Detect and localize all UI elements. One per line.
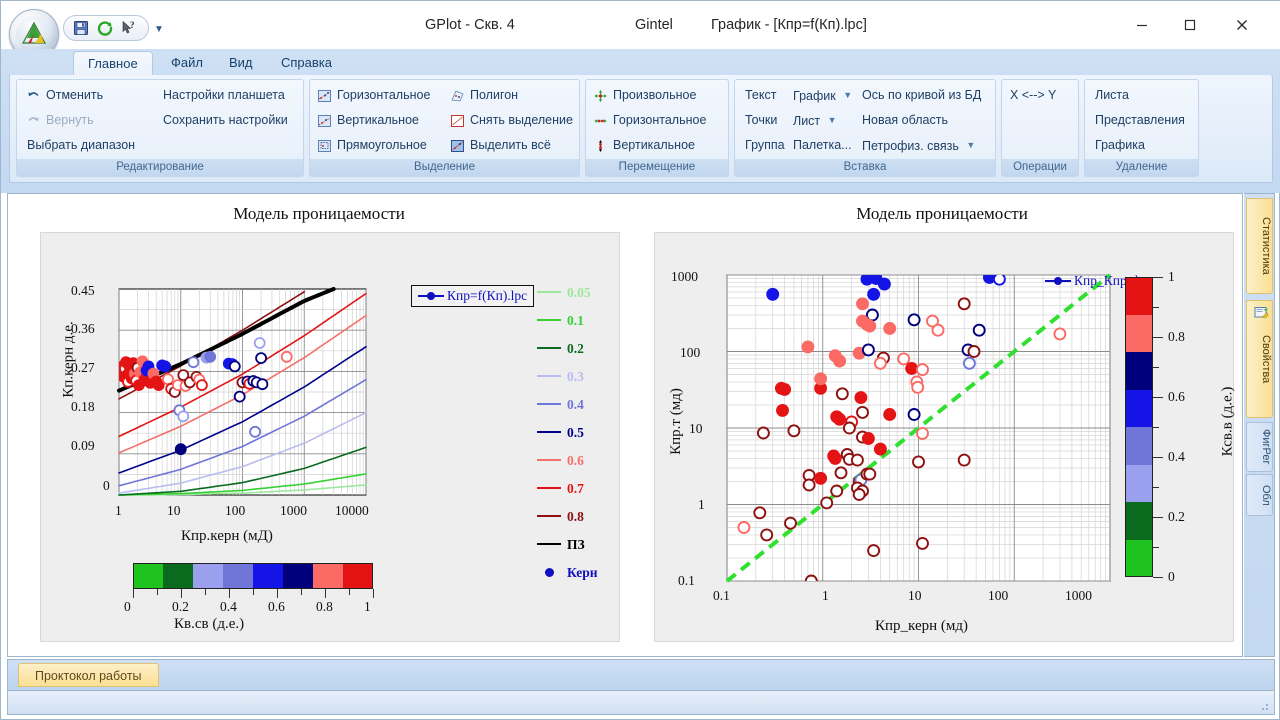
ribbon-group-insert: Текст Точки Группа График ▼ Лист ▼ Палет… (734, 79, 996, 177)
plot-panel-left[interactable]: Модель проницаемости Кп.керн д.е. Кпр.ке… (16, 202, 622, 646)
chevron-down-icon[interactable]: ▼ (966, 137, 975, 153)
ribbon-group-selection-title: Выделение (310, 159, 579, 176)
btn-insert-chart[interactable]: График ▼ (791, 86, 854, 105)
legend-dot-swatch (537, 565, 561, 581)
colorbar-tick-label: 0.8 (1168, 329, 1185, 345)
window-close-button[interactable] (1219, 1, 1265, 49)
ribbon-group-delete-title: Удаление (1085, 159, 1198, 176)
legend-line-swatch (537, 403, 561, 405)
colorbar-tick-label: 0.8 (316, 599, 333, 615)
select-all-icon (451, 140, 466, 154)
colorbar-tick (1153, 517, 1163, 518)
plot-left-legend-item-label: 0.4 (567, 397, 584, 412)
plot-left-legend-box[interactable]: Кпр=f(Кп).lpc (411, 285, 534, 307)
move-free-icon (594, 90, 609, 104)
chevron-down-icon[interactable]: ▼ (828, 112, 837, 128)
ribbon-group-operations: X <--> Y Операции (1001, 79, 1079, 177)
plot-left-legend-item-10[interactable]: Керн (537, 565, 598, 581)
btn-insert-text[interactable]: Текст (743, 86, 778, 104)
side-tab-svoystva-label: Свойства (1260, 335, 1272, 383)
plot-left-legend-item-label: 0.2 (567, 341, 584, 356)
btn-delete-graphic[interactable]: Графика (1093, 136, 1147, 154)
svg-text:?: ? (130, 20, 135, 30)
ribbon-group-move-title: Перемещение (586, 159, 728, 176)
title-bar: ? ▼ GPlot - Скв. 4 Gintel График - [Кпр=… (1, 1, 1280, 49)
colorbar-tick (1153, 487, 1159, 488)
btn-move-horizontal[interactable]: Горизонтальное (592, 111, 708, 130)
plot-left-legend-item-label: 0.7 (567, 481, 584, 496)
btn-insert-group[interactable]: Группа (743, 136, 787, 154)
plot-left-legend-item-4[interactable]: 0.4 (537, 397, 584, 413)
ribbon-group-editing-title: Редактирование (17, 159, 303, 176)
ribbon-tab-strip: Главное Файл Вид Справка (1, 49, 1280, 75)
select-vertical-icon (318, 115, 333, 129)
plot-left-legend-item-label: 0.8 (567, 509, 584, 524)
btn-move-vertical-label: Вертикальное (613, 138, 695, 152)
plot-left-legend-item-9[interactable]: ПЗ (537, 537, 585, 553)
document-area: Модель проницаемости Кп.керн д.е. Кпр.ке… (7, 193, 1243, 657)
colorbar-tick (301, 589, 302, 595)
btn-new-area[interactable]: Новая область (860, 111, 950, 129)
plot-left-legend-item-0[interactable]: 0.05 (537, 285, 591, 301)
redo-icon (27, 115, 42, 129)
plot-right-colorbar-label: Ксв.в (д.е.) (1219, 387, 1236, 457)
btn-deselect-label: Снять выделение (470, 113, 573, 127)
btn-redo[interactable]: Вернуть (25, 111, 96, 130)
colorbar-tick-label: 0.2 (172, 599, 189, 615)
btn-delete-presentation[interactable]: Представления (1093, 111, 1187, 129)
colorbar-tick-label: 0 (124, 599, 131, 615)
colorbar-tick (229, 589, 230, 598)
legend-line-swatch (537, 459, 561, 461)
plot-left-legend-item-label: 0.1 (567, 313, 584, 328)
ribbon-panel: Отменить Вернуть Выбрать диапазон Настро… (9, 75, 1273, 183)
colorbar-tick (1153, 397, 1163, 398)
legend-line-swatch (537, 319, 561, 321)
plot-left-legend-item-label: 0.6 (567, 453, 584, 468)
btn-select-vertical[interactable]: Вертикальное (316, 111, 421, 130)
select-polygon-icon (451, 90, 466, 104)
colorbar-tick (133, 589, 134, 598)
plot-left-legend-item-label: 0.5 (567, 425, 584, 440)
plot-left-legend-item-label: 0.05 (567, 285, 591, 300)
btn-tablet-settings[interactable]: Настройки планшета (161, 86, 287, 104)
colorbar-tick-label: 0 (1168, 569, 1175, 585)
ribbon-group-insert-title: Вставка (735, 159, 995, 176)
refresh-icon[interactable] (96, 19, 114, 37)
ribbon-group-move: Произвольное Горизонтальное Вертикальное… (585, 79, 729, 177)
plot-left-legend-item-5[interactable]: 0.5 (537, 425, 584, 441)
colorbar-tick-label: 0.2 (1168, 509, 1185, 525)
window-document-title: График - [Кпр=f(Кп).lpc] (711, 1, 867, 49)
plot-left-legend-item-2[interactable]: 0.2 (537, 341, 584, 357)
app-logo-icon (16, 16, 52, 52)
colorbar-tick (157, 589, 158, 595)
plot-left-legend-item-8[interactable]: 0.8 (537, 509, 584, 525)
btn-swap-xy[interactable]: X <--> Y (1008, 86, 1058, 104)
colorbar-tick-label: 0.6 (1168, 389, 1185, 405)
btn-axis-from-db[interactable]: Ось по кривой из БД (860, 86, 983, 104)
colorbar-tick (253, 589, 254, 595)
btn-select-vertical-label: Вертикальное (337, 113, 419, 127)
plot-left-legend-item-label: Керн (567, 565, 598, 580)
side-tab-statistika[interactable]: Статистика (1246, 198, 1273, 294)
plot-panel-right[interactable]: Модель проницаемости Кпр.т (мд) Кпр_керн… (648, 202, 1236, 646)
btn-insert-chart-label: График (793, 89, 836, 103)
plot-left-colorbar-label: Кв.св (д.е.) (174, 616, 244, 633)
colorbar-tick (1153, 547, 1159, 548)
btn-save-settings[interactable]: Сохранить настройки (161, 111, 290, 129)
bottom-bar (7, 691, 1275, 715)
colorbar-tick-label: 1 (1168, 269, 1175, 285)
colorbar-tick-label: 0.6 (268, 599, 285, 615)
colorbar-tick (277, 589, 278, 598)
window-org-name: Gintel (635, 1, 673, 49)
colorbar-frame (133, 563, 373, 589)
colorbar-tick-label: 0.4 (1168, 449, 1185, 465)
btn-select-horizontal[interactable]: Горизонтальное (316, 86, 432, 105)
window-maximize-button[interactable] (1167, 1, 1213, 49)
move-horizontal-icon (594, 115, 609, 129)
btn-select-all-label: Выделить всё (470, 138, 551, 152)
legend-line-swatch (537, 487, 561, 489)
legend-line-swatch (537, 543, 561, 545)
colorbar-tick (1153, 307, 1159, 308)
btn-move-horizontal-label: Горизонтальное (613, 113, 706, 127)
btn-select-horizontal-label: Горизонтальное (337, 88, 430, 102)
ribbon-group-editing: Отменить Вернуть Выбрать диапазон Настро… (16, 79, 304, 177)
plot-right-title: Модель проницаемости (648, 204, 1236, 224)
colorbar-tick (373, 589, 374, 598)
plot-left-legend-item-7[interactable]: 0.7 (537, 481, 584, 497)
ribbon-group-delete: Листа Представления Графика Удаление (1084, 79, 1199, 177)
side-tab-obl[interactable]: Обл (1246, 474, 1273, 516)
btn-insert-sheet[interactable]: Лист ▼ (791, 111, 839, 130)
btn-select-rectangle-label: Прямоугольное (337, 138, 427, 152)
status-strip: Проктокол работы (7, 659, 1275, 691)
move-vertical-icon (594, 140, 609, 154)
btn-delete-sheet[interactable]: Листа (1093, 86, 1131, 104)
btn-select-all[interactable]: Выделить всё (449, 136, 553, 155)
undo-icon (27, 90, 42, 104)
tab-vid[interactable]: Вид (215, 51, 267, 75)
btn-insert-sheet-label: Лист (793, 114, 820, 128)
legend-line-swatch (537, 431, 561, 433)
colorbar-frame (1125, 277, 1153, 577)
btn-select-polygon-label: Полигон (470, 88, 518, 102)
resize-grip[interactable] (1258, 700, 1270, 712)
colorbar-tick (1153, 277, 1163, 278)
colorbar-tick (1153, 427, 1159, 428)
btn-deselect[interactable]: Снять выделение (449, 111, 575, 130)
deselect-icon (451, 115, 466, 129)
plot-left-legend-text: Кпр=f(Кп).lpc (447, 288, 527, 303)
side-tab-svoystva[interactable]: Свойства (1246, 300, 1273, 418)
colorbar-tick (349, 589, 350, 595)
legend-line-swatch (537, 515, 561, 517)
plot-left-canvas[interactable]: Кп.керн д.е. Кпр.керн (мД) 0 0.09 0.18 0… (40, 232, 620, 642)
legend-line-swatch (537, 291, 561, 293)
plot-left-legend-item-label: 0.3 (567, 369, 584, 384)
plot-left-legend-item-6[interactable]: 0.6 (537, 453, 584, 469)
btn-petrophys-link[interactable]: Петрофиз. связь ▼ (860, 136, 977, 155)
tab-spravka[interactable]: Справка (267, 51, 346, 75)
tab-glavnoe[interactable]: Главное (73, 51, 153, 75)
colorbar-tick (325, 589, 326, 598)
btn-redo-label: Вернуть (46, 113, 94, 127)
ribbon-group-selection: Горизонтальное Вертикальное Прямоугольно… (309, 79, 580, 177)
plot-left-title: Модель проницаемости (16, 204, 622, 224)
btn-move-free-label: Произвольное (613, 88, 696, 102)
select-horizontal-icon (318, 90, 333, 104)
legend-line-swatch (537, 347, 561, 349)
btn-petrophys-link-label: Петрофиз. связь (862, 139, 959, 153)
window-app-title: GPlot - Скв. 4 (425, 1, 515, 49)
colorbar-tick (1153, 577, 1163, 578)
ribbon: Главное Файл Вид Справка _ ❐ ✖ Отменить (1, 49, 1280, 193)
colorbar-tick-label: 0.4 (220, 599, 237, 615)
btn-select-polygon[interactable]: Полигон (449, 86, 520, 105)
colorbar-tick (1153, 457, 1163, 458)
colorbar-tick (205, 589, 206, 595)
legend-line-swatch (537, 375, 561, 377)
quick-access-toolbar: ? (63, 15, 149, 41)
help-cursor-icon[interactable]: ? (120, 19, 138, 37)
plot-left-legend-item-3[interactable]: 0.3 (537, 369, 584, 385)
plot-left-legend-item-label: ПЗ (567, 537, 585, 552)
btn-select-range[interactable]: Выбрать диапазон (25, 136, 137, 154)
select-rectangle-icon (318, 140, 333, 154)
side-tab-figreg[interactable]: ФигРег (1246, 422, 1273, 472)
chevron-down-icon[interactable]: ▼ (843, 87, 852, 103)
window-minimize-button[interactable] (1119, 1, 1165, 49)
colorbar-tick (1153, 367, 1159, 368)
save-icon[interactable] (72, 19, 90, 37)
btn-undo[interactable]: Отменить (25, 86, 105, 105)
status-tab-protocol[interactable]: Проктокол работы (18, 663, 159, 687)
plot-right-canvas[interactable]: Кпр.т (мд) Кпр_керн (мд) 0.1 1 10 100 10… (654, 232, 1234, 642)
btn-undo-label: Отменить (46, 88, 103, 102)
ribbon-group-operations-title: Операции (1002, 159, 1078, 176)
btn-move-free[interactable]: Произвольное (592, 86, 698, 105)
tab-fayl[interactable]: Файл (157, 51, 217, 75)
colorbar-tick-label: 1 (364, 599, 371, 615)
side-tab-bar: Статистика Свойства ФигРег Обл (1244, 193, 1275, 657)
plot-left-legend-item-1[interactable]: 0.1 (537, 313, 584, 329)
btn-insert-points[interactable]: Точки (743, 111, 779, 129)
colorbar-tick (1153, 337, 1163, 338)
btn-move-vertical[interactable]: Вертикальное (592, 136, 697, 155)
btn-select-rectangle[interactable]: Прямоугольное (316, 136, 429, 155)
colorbar-tick (181, 589, 182, 598)
btn-insert-palette[interactable]: Палетка... (791, 136, 854, 154)
gplot-window: ? ▼ GPlot - Скв. 4 Gintel График - [Кпр=… (0, 0, 1280, 720)
quick-access-more-icon[interactable]: ▼ (153, 25, 165, 37)
properties-icon (1253, 305, 1269, 319)
